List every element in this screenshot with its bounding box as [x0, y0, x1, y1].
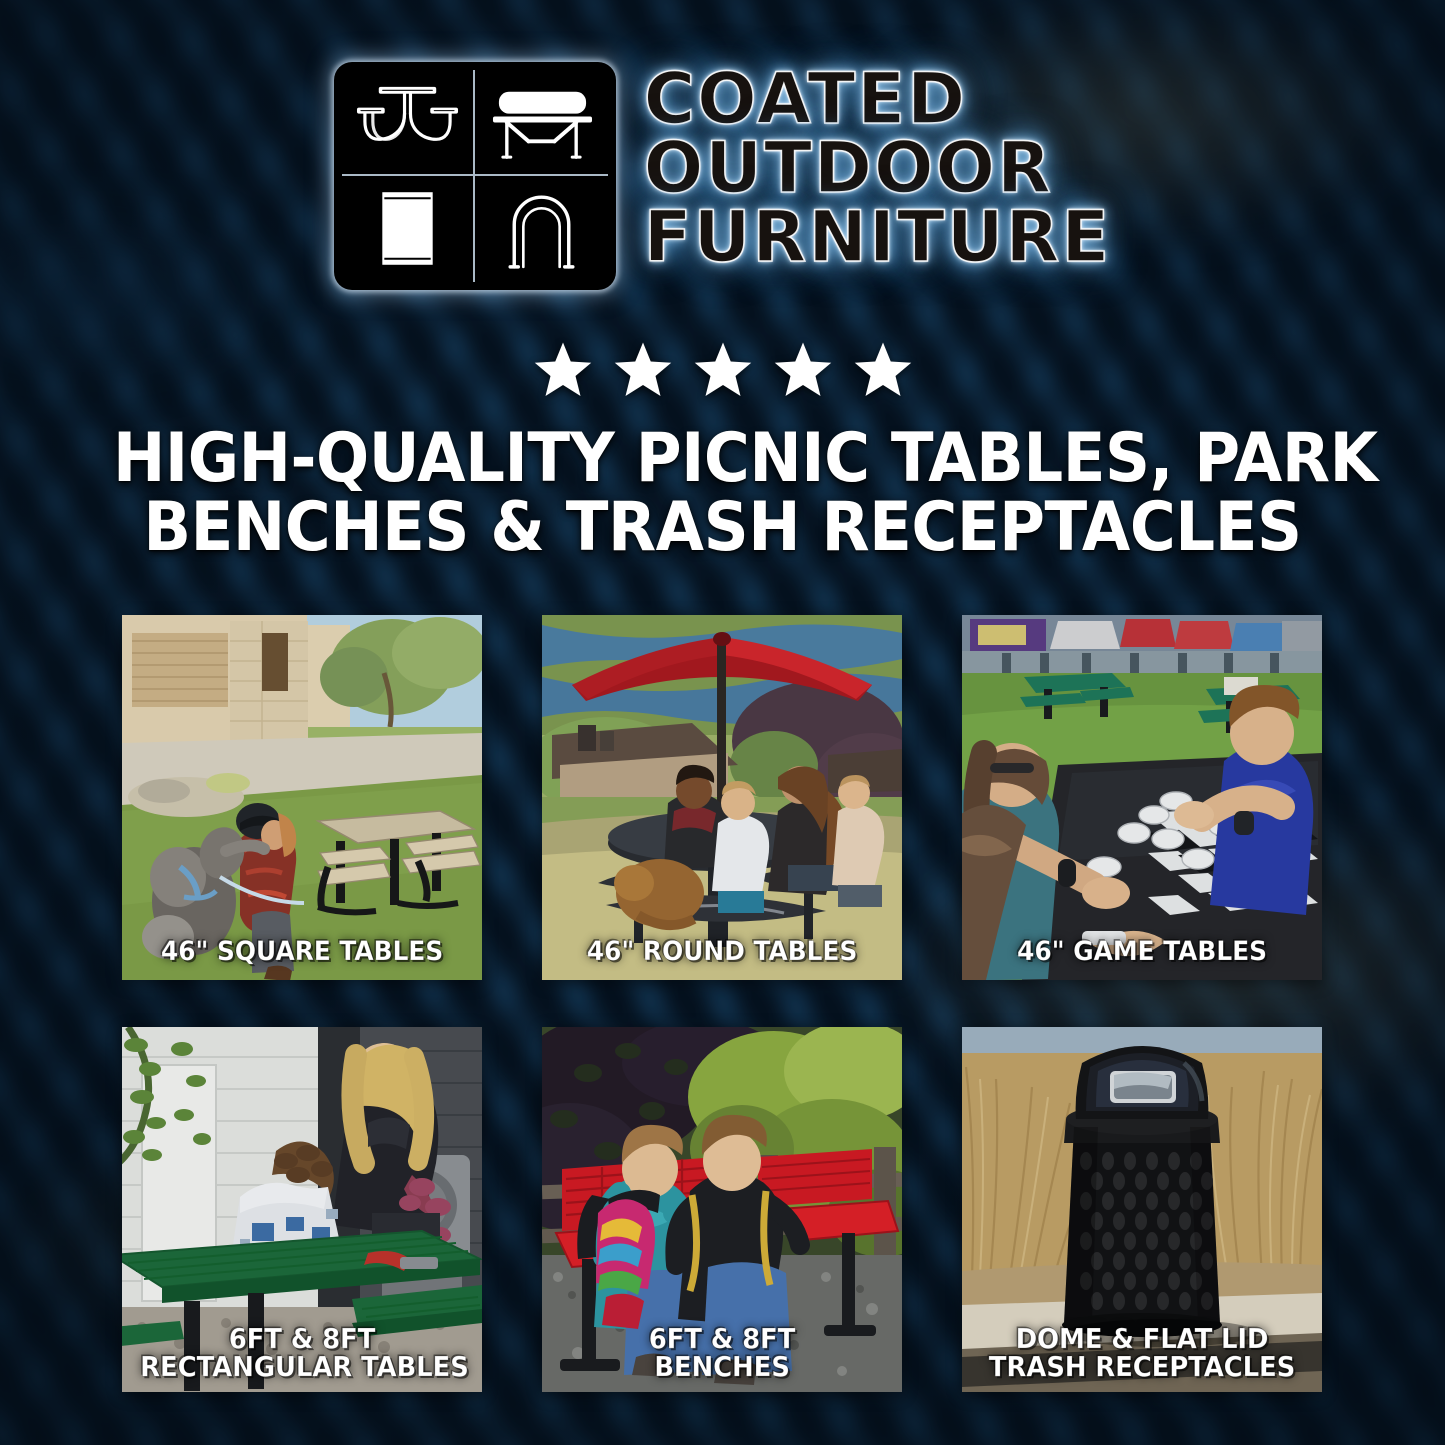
- poster-content: COATED OUTDOOR FURNITURE HIGH-QUALITY PI…: [0, 0, 1445, 1445]
- trash-receptacle-icon: [342, 176, 475, 282]
- product-tile-round-tables[interactable]: 46" ROUND TABLES: [542, 615, 902, 980]
- product-caption: 46" ROUND TABLES: [560, 938, 884, 966]
- product-caption-line-1: 46" SQUARE TABLES: [140, 938, 464, 966]
- star-icon: [532, 340, 594, 400]
- product-caption-line-1: 46" ROUND TABLES: [560, 938, 884, 966]
- product-tile-game-tables[interactable]: 46" GAME TABLES: [962, 615, 1322, 980]
- brand-wordmark: COATED OUTDOOR FURNITURE: [644, 62, 1112, 272]
- headline-line-1: HIGH-QUALITY PICNIC TABLES, PARK: [113, 424, 1332, 493]
- product-caption: 46" SQUARE TABLES: [140, 938, 464, 966]
- product-caption-line-1: DOME & FLAT LID: [980, 1325, 1304, 1354]
- brand-name-line-1: COATED: [644, 66, 1112, 133]
- star-icon: [692, 340, 754, 400]
- brand-name-line-2: OUTDOOR: [644, 135, 1112, 202]
- product-tile-rectangular-tables[interactable]: 6FT & 8FT RECTANGULAR TABLES: [122, 1027, 482, 1392]
- product-caption-line-2: RECTANGULAR TABLES: [140, 1353, 464, 1382]
- star-icon: [612, 340, 674, 400]
- product-photo-round-tables: [542, 615, 902, 980]
- product-caption: 46" GAME TABLES: [980, 938, 1304, 966]
- product-tile-benches[interactable]: 6FT & 8FT BENCHES: [542, 1027, 902, 1392]
- product-tile-trash-receptacles[interactable]: DOME & FLAT LID TRASH RECEPTACLES: [962, 1027, 1322, 1392]
- bench-icon: [475, 70, 608, 176]
- bike-rack-icon: [475, 176, 608, 282]
- product-caption-line-1: 6FT & 8FT: [560, 1325, 884, 1354]
- picnic-table-icon: [342, 70, 475, 176]
- brand-logo-mark: [334, 62, 616, 290]
- headline-line-2: BENCHES & TRASH RECEPTACLES: [113, 493, 1332, 562]
- product-tile-square-tables[interactable]: 46" SQUARE TABLES: [122, 615, 482, 980]
- product-caption-line-2: BENCHES: [560, 1353, 884, 1382]
- star-rating: [0, 330, 1445, 410]
- product-caption: 6FT & 8FT BENCHES: [560, 1325, 884, 1382]
- brand-logo-row: COATED OUTDOOR FURNITURE: [0, 62, 1445, 300]
- product-caption: DOME & FLAT LID TRASH RECEPTACLES: [980, 1325, 1304, 1382]
- product-grid: 46" SQUARE TABLES: [122, 615, 1323, 1392]
- product-caption: 6FT & 8FT RECTANGULAR TABLES: [140, 1325, 464, 1382]
- product-photo-square-tables: [122, 615, 482, 980]
- product-caption-line-1: 6FT & 8FT: [140, 1325, 464, 1354]
- star-icon: [852, 340, 914, 400]
- page-headline: HIGH-QUALITY PICNIC TABLES, PARK BENCHES…: [113, 424, 1332, 563]
- logo-icon-grid: [342, 70, 608, 282]
- promo-poster: COATED OUTDOOR FURNITURE HIGH-QUALITY PI…: [0, 0, 1445, 1445]
- product-caption-line-2: TRASH RECEPTACLES: [980, 1353, 1304, 1382]
- star-icon: [772, 340, 834, 400]
- brand-name-line-3: FURNITURE: [644, 204, 1112, 271]
- product-photo-game-tables: [962, 615, 1322, 980]
- product-caption-line-1: 46" GAME TABLES: [980, 938, 1304, 966]
